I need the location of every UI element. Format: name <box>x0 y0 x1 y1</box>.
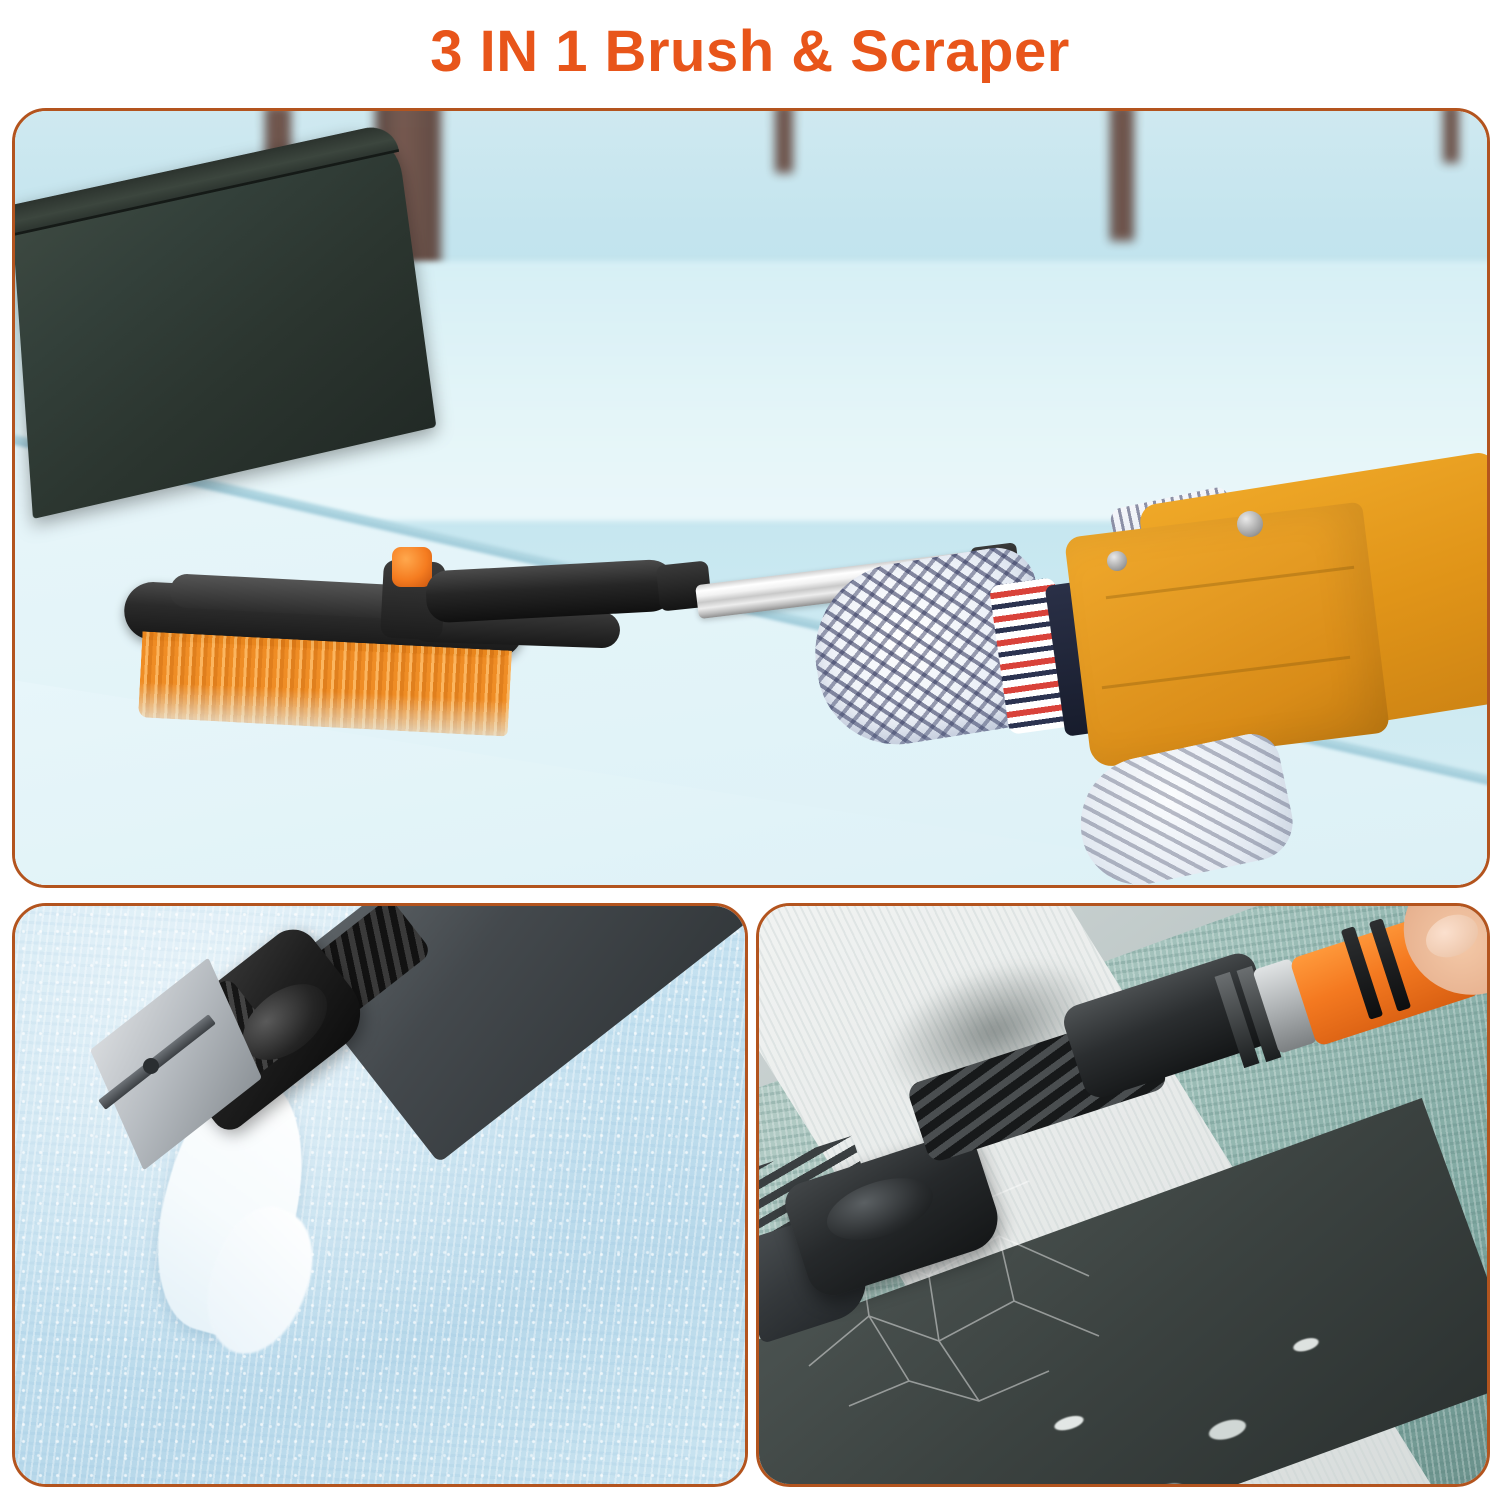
brush-handle-arm <box>425 558 677 623</box>
ice-scraper-scene <box>759 906 1487 1484</box>
panel-ice-scraper: Ice Scraper <box>756 903 1490 1487</box>
snow-brush-tool <box>110 543 810 733</box>
jacket-snap-button-icon <box>1107 551 1127 571</box>
panel-snow-scraper: Snow Scraper <box>12 108 1490 888</box>
pivot-release-button-icon <box>392 547 432 587</box>
panel-frost-scraper: Frost Scraper <box>12 903 748 1487</box>
jacket-snap-button-icon <box>1237 511 1263 537</box>
brush-bristles <box>138 631 512 736</box>
blade-hole-icon <box>143 1058 159 1074</box>
title-bar: 3 IN 1 Brush & Scraper <box>0 0 1500 104</box>
frost-scraper-scene <box>15 906 745 1484</box>
snow-scraper-scene <box>15 111 1487 885</box>
tree-trunk-icon <box>775 108 793 173</box>
page-title: 3 IN 1 Brush & Scraper <box>430 23 1070 81</box>
tree-trunk-icon <box>1110 108 1134 241</box>
jacket-sleeve-cuff <box>1064 502 1390 769</box>
tree-trunk-icon <box>1443 108 1459 163</box>
